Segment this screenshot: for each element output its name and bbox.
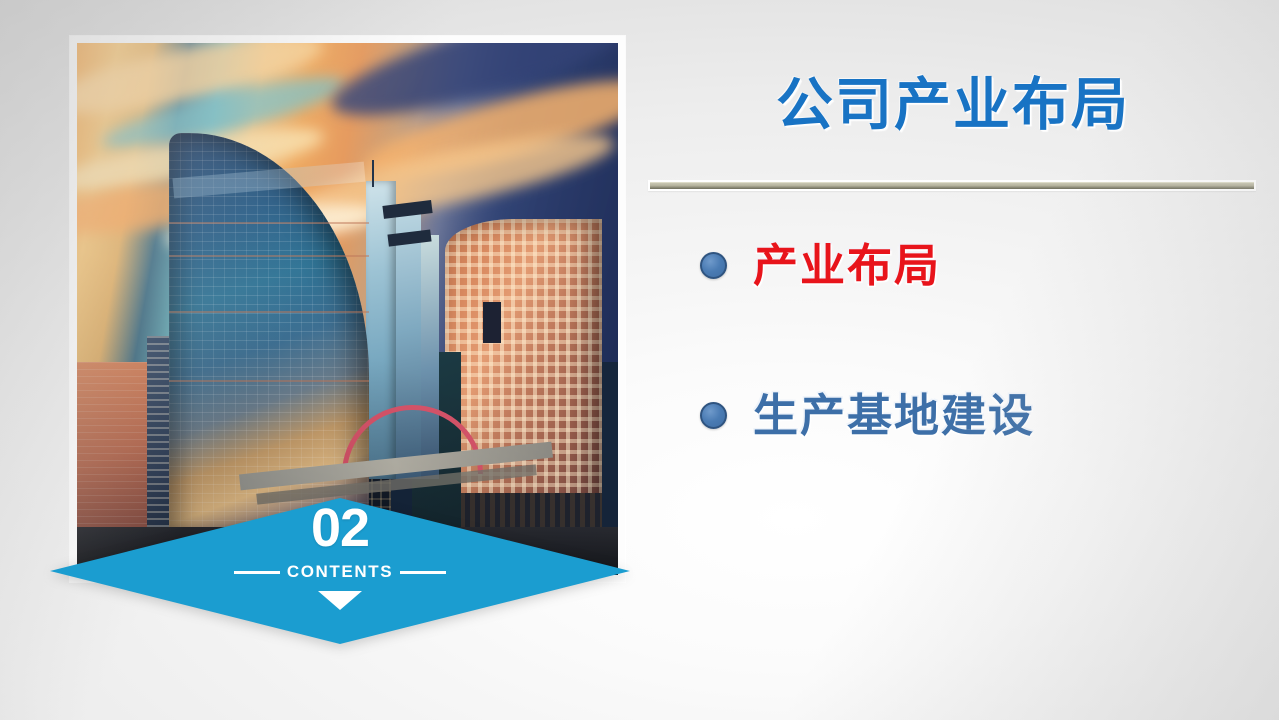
bullet-item-chanye-buju[interactable]: 产业布局	[700, 243, 941, 288]
photo-vignette	[77, 43, 618, 575]
bullet-item-label: 生产基地建设	[753, 393, 1035, 438]
bullet-circle-icon	[700, 252, 727, 279]
slide-title: 公司产业布局	[648, 74, 1258, 137]
bullet-item-shengchan-jidi[interactable]: 生产基地建设	[700, 393, 1035, 438]
bullet-circle-icon	[700, 402, 727, 429]
section-badge-diamond	[50, 498, 630, 644]
diamond-shape	[50, 498, 630, 644]
bullet-item-label: 产业布局	[753, 243, 941, 288]
slide-canvas: 02 CONTENTS 公司产业布局 产业布局 生产基地建设	[0, 0, 1279, 720]
title-divider	[648, 180, 1256, 191]
divider-bar	[650, 182, 1254, 189]
cityscape-photo	[77, 43, 618, 575]
